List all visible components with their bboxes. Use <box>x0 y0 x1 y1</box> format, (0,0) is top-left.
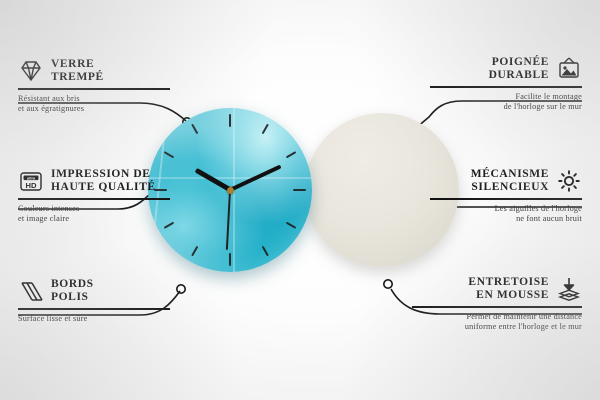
callout-sub-line2: et aux égratignures <box>18 104 170 115</box>
callout-title-line1: POIGNÉE <box>489 56 549 69</box>
callout-title-line2: DURABLE <box>489 69 549 82</box>
polished-edges-icon <box>18 278 44 304</box>
callout-entretoise-en-mousse: ENTRETOISE EN MOUSSE Permet de maintenir… <box>412 276 582 333</box>
foam-spacer-icon <box>556 276 582 302</box>
hour-tick <box>293 189 306 191</box>
diamond-icon <box>18 58 44 84</box>
callout-sub-line1: Couleurs intenses <box>18 204 170 215</box>
callout-rule <box>18 308 170 310</box>
ultra-hd-icon: ultra HD <box>18 168 44 194</box>
callout-sub-line2: uniforme entre l'horloge et le mur <box>412 322 582 333</box>
callout-rule <box>430 86 582 88</box>
callout-sub-line1: Surface lisse et sûre <box>18 314 170 325</box>
svg-text:HD: HD <box>26 181 37 190</box>
callout-title-line1: IMPRESSION DE <box>51 168 156 181</box>
glass-seam-horizontal <box>148 177 312 179</box>
callout-rule <box>412 306 582 308</box>
callout-title-line2: SILENCIEUX <box>471 181 549 194</box>
callout-mecanisme-silencieux: MÉCANISME SILENCIEUX Les aiguilles de l'… <box>430 168 582 225</box>
infographic-canvas: VERRE TREMPÉ Résistant aux bris et aux é… <box>0 0 600 400</box>
callout-title-line2: EN MOUSSE <box>468 289 549 302</box>
callout-rule <box>430 198 582 200</box>
callout-sub-line2: ne font aucun bruit <box>430 214 582 225</box>
callout-title-line1: ENTRETOISE <box>468 276 549 289</box>
hour-tick <box>229 114 231 127</box>
svg-text:ultra: ultra <box>27 176 36 180</box>
callout-title-line1: MÉCANISME <box>471 168 549 181</box>
gear-icon <box>556 168 582 194</box>
hanging-frame-icon <box>556 56 582 82</box>
callout-title-line2: TREMPÉ <box>51 71 104 84</box>
callout-poignee-durable: POIGNÉE DURABLE Facilite le montage de l… <box>430 56 582 113</box>
hour-tick <box>229 253 231 266</box>
callout-sub-line2: et image claire <box>18 214 170 225</box>
callout-impression-haute-qualite: ultra HD IMPRESSION DE HAUTE QUALITÉ Cou… <box>18 168 170 225</box>
callout-verre-trempe: VERRE TREMPÉ Résistant aux bris et aux é… <box>18 58 170 115</box>
callout-sub-line1: Les aiguilles de l'horloge <box>430 204 582 215</box>
callout-title-line1: VERRE <box>51 58 104 71</box>
callout-rule <box>18 88 170 90</box>
callout-sub-line2: de l'horloge sur le mur <box>430 102 582 113</box>
callout-sub-line1: Facilite le montage <box>430 92 582 103</box>
glass-clock-face <box>148 108 312 272</box>
center-cap <box>227 187 234 194</box>
callout-sub-line1: Résistant aux bris <box>18 94 170 105</box>
callout-title-line2: POLIS <box>51 291 94 304</box>
callout-rule <box>18 198 170 200</box>
callout-sub-line1: Permet de maintenir une distance <box>412 312 582 323</box>
callout-title-line2: HAUTE QUALITÉ <box>51 181 156 194</box>
callout-bords-polis: BORDS POLIS Surface lisse et sûre <box>18 278 170 324</box>
callout-title-line1: BORDS <box>51 278 94 291</box>
